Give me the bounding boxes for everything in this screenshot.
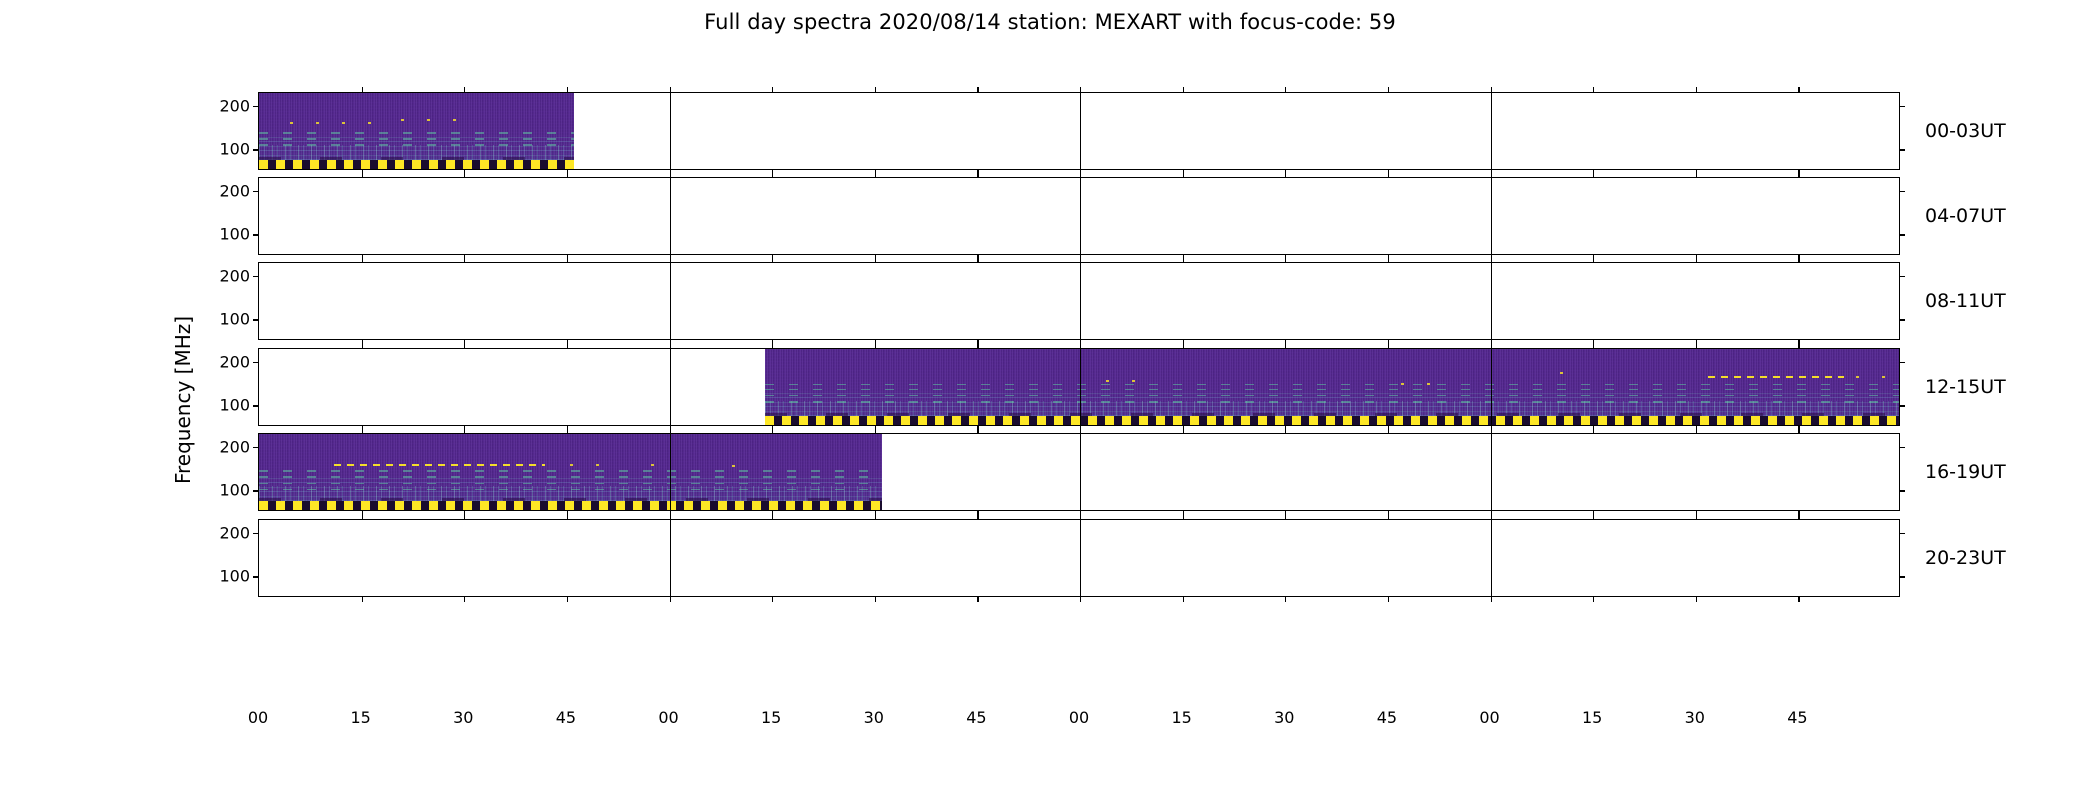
x-tick-label: 45 — [1787, 708, 1807, 727]
panel-time-range-label: 16-19UT — [1925, 461, 2006, 483]
x-tick-mark — [1798, 428, 1799, 434]
spectral-striation — [259, 144, 574, 146]
x-tick-label: 45 — [966, 708, 986, 727]
y-tick-mark — [1899, 533, 1905, 534]
hour-gridline — [1491, 520, 1492, 596]
x-tick-mark — [1183, 514, 1184, 520]
hour-gridline — [1080, 263, 1081, 339]
y-tick-label: 200 — [219, 353, 250, 372]
x-tick-mark — [670, 514, 671, 520]
x-tick-label: 30 — [1274, 708, 1294, 727]
rfi-emission-line — [290, 122, 384, 124]
y-tick-mark — [1899, 319, 1905, 320]
hour-gridline — [1491, 263, 1492, 339]
hour-gridline — [1080, 520, 1081, 596]
panel-time-range-label: 08-11UT — [1925, 290, 2006, 312]
y-tick-mark — [253, 490, 259, 491]
rfi-emission-line — [1856, 376, 1890, 378]
x-tick-mark — [464, 514, 465, 520]
x-tick-mark — [1593, 428, 1594, 434]
x-tick-mark — [1491, 514, 1492, 520]
hour-gridline — [670, 178, 671, 254]
hour-gridline — [670, 434, 671, 510]
rfi-emission-line — [1560, 372, 1583, 374]
x-tick-mark — [1798, 514, 1799, 520]
x-tick-mark — [1388, 257, 1389, 263]
panel-time-range-label: 20-23UT — [1925, 547, 2006, 569]
spectral-striation — [259, 489, 882, 491]
x-tick-label: 00 — [1069, 708, 1089, 727]
hour-gridline — [670, 263, 671, 339]
x-tick-mark — [1285, 596, 1286, 602]
x-tick-label: 00 — [248, 708, 268, 727]
y-tick-label: 100 — [219, 567, 250, 586]
panel-plot-area — [259, 178, 1899, 254]
x-tick-mark — [977, 596, 978, 602]
y-tick-mark — [253, 533, 259, 534]
x-tick-mark — [567, 257, 568, 263]
rfi-emission-line — [1401, 383, 1446, 385]
x-tick-mark — [567, 514, 568, 520]
y-tick-mark — [1899, 447, 1905, 448]
x-tick-mark — [670, 343, 671, 349]
x-tick-mark — [875, 257, 876, 263]
x-tick-mark — [1593, 257, 1594, 263]
x-tick-label: 45 — [1377, 708, 1397, 727]
spectrogram-panel: 100200 — [258, 433, 1900, 511]
y-tick-mark — [1899, 191, 1905, 192]
x-tick-mark — [464, 172, 465, 178]
y-tick-mark — [1899, 362, 1905, 363]
x-tick-mark — [1696, 343, 1697, 349]
x-tick-mark — [875, 428, 876, 434]
x-tick-mark — [464, 257, 465, 263]
x-tick-mark — [1183, 343, 1184, 349]
x-tick-mark — [1080, 87, 1081, 93]
x-tick-mark — [362, 343, 363, 349]
x-tick-mark — [1491, 257, 1492, 263]
y-tick-mark — [1899, 276, 1905, 277]
hour-gridline — [1491, 349, 1492, 425]
spectral-striation — [259, 132, 574, 134]
y-tick-label: 100 — [219, 481, 250, 500]
x-tick-label: 15 — [761, 708, 781, 727]
hour-gridline — [670, 520, 671, 596]
y-tick-label: 100 — [219, 225, 250, 244]
y-tick-label: 100 — [219, 140, 250, 159]
spectrogram-image — [765, 349, 1899, 425]
x-tick-label: 15 — [1582, 708, 1602, 727]
panel-plot-area — [259, 520, 1899, 596]
x-tick-label: 45 — [556, 708, 576, 727]
x-tick-mark — [1183, 257, 1184, 263]
x-tick-mark — [1080, 428, 1081, 434]
y-tick-mark — [253, 106, 259, 107]
x-tick-mark — [1183, 87, 1184, 93]
x-tick-label: 30 — [1685, 708, 1705, 727]
spectrogram-panel: 100200 — [258, 92, 1900, 170]
x-tick-mark — [1080, 343, 1081, 349]
x-tick-mark — [772, 514, 773, 520]
spectrogram-image — [259, 434, 882, 510]
x-tick-mark — [464, 428, 465, 434]
x-tick-mark — [875, 172, 876, 178]
x-tick-mark — [567, 596, 568, 602]
x-tick-mark — [875, 596, 876, 602]
x-tick-mark — [1080, 172, 1081, 178]
x-tick-mark — [977, 514, 978, 520]
x-tick-mark — [362, 87, 363, 93]
spectral-striation — [765, 389, 1899, 391]
x-tick-mark — [1080, 514, 1081, 520]
x-tick-mark — [1491, 172, 1492, 178]
spectrogram-image — [259, 93, 574, 169]
panel-time-range-label: 12-15UT — [1925, 376, 2006, 398]
x-tick-mark — [567, 343, 568, 349]
x-tick-mark — [362, 514, 363, 520]
x-tick-mark — [1798, 257, 1799, 263]
calibration-marker-strip — [765, 416, 1899, 425]
hour-gridline — [1491, 93, 1492, 169]
y-tick-mark — [1899, 490, 1905, 491]
spectral-striation — [765, 395, 1899, 397]
panel-plot-area — [259, 263, 1899, 339]
x-tick-mark — [362, 172, 363, 178]
y-tick-label: 200 — [219, 524, 250, 543]
y-tick-mark — [1899, 576, 1905, 577]
x-tick-mark — [1593, 172, 1594, 178]
hour-gridline — [1080, 349, 1081, 425]
panel-time-range-label: 04-07UT — [1925, 205, 2006, 227]
x-tick-mark — [1798, 596, 1799, 602]
figure-canvas: Full day spectra 2020/08/14 station: MEX… — [0, 0, 2100, 800]
x-tick-mark — [977, 172, 978, 178]
x-tick-mark — [670, 596, 671, 602]
x-tick-mark — [1285, 257, 1286, 263]
calibration-marker-strip — [259, 501, 882, 510]
x-tick-mark — [362, 428, 363, 434]
rfi-emission-line — [651, 464, 663, 466]
x-tick-mark — [1285, 514, 1286, 520]
y-tick-mark — [253, 405, 259, 406]
y-tick-label: 100 — [219, 396, 250, 415]
x-tick-mark — [1080, 596, 1081, 602]
x-tick-mark — [1183, 172, 1184, 178]
x-tick-mark — [1388, 514, 1389, 520]
x-tick-mark — [772, 172, 773, 178]
x-tick-label: 30 — [864, 708, 884, 727]
x-tick-mark — [670, 172, 671, 178]
hour-gridline — [1491, 434, 1492, 510]
y-tick-label: 200 — [219, 182, 250, 201]
rfi-emission-line — [334, 464, 546, 466]
x-tick-mark — [772, 257, 773, 263]
rfi-emission-line — [401, 119, 458, 121]
x-tick-mark — [1593, 514, 1594, 520]
x-tick-mark — [1696, 172, 1697, 178]
y-tick-mark — [253, 576, 259, 577]
x-tick-mark — [772, 428, 773, 434]
x-tick-mark — [1183, 596, 1184, 602]
spectral-striation — [765, 401, 1899, 403]
y-tick-mark — [253, 319, 259, 320]
spectral-striation — [259, 138, 574, 140]
x-tick-mark — [567, 172, 568, 178]
y-tick-label: 100 — [219, 310, 250, 329]
hour-gridline — [1080, 434, 1081, 510]
x-tick-mark — [1798, 343, 1799, 349]
x-tick-mark — [464, 87, 465, 93]
x-tick-mark — [1491, 428, 1492, 434]
x-tick-mark — [362, 596, 363, 602]
x-tick-mark — [1285, 172, 1286, 178]
x-tick-mark — [1388, 87, 1389, 93]
x-tick-mark — [1696, 257, 1697, 263]
y-tick-mark — [253, 191, 259, 192]
y-tick-mark — [253, 149, 259, 150]
x-tick-mark — [1696, 514, 1697, 520]
hour-gridline — [1491, 178, 1492, 254]
x-tick-mark — [977, 87, 978, 93]
rfi-emission-line — [570, 464, 601, 466]
x-tick-mark — [362, 257, 363, 263]
panel-time-range-label: 00-03UT — [1925, 120, 2006, 142]
x-tick-mark — [1285, 343, 1286, 349]
spectral-striation — [259, 470, 882, 472]
y-tick-label: 200 — [219, 438, 250, 457]
x-tick-mark — [1080, 257, 1081, 263]
x-tick-mark — [464, 343, 465, 349]
x-tick-label: 00 — [658, 708, 678, 727]
rfi-emission-line — [1106, 380, 1140, 382]
spectrogram-panel: 100200 — [258, 177, 1900, 255]
spectral-striation — [259, 483, 882, 485]
hour-gridline — [670, 93, 671, 169]
y-tick-mark — [1899, 106, 1905, 107]
x-tick-mark — [772, 343, 773, 349]
spectrogram-panel: 100200 — [258, 519, 1900, 597]
hour-gridline — [1080, 93, 1081, 169]
hour-gridline — [670, 349, 671, 425]
x-tick-mark — [772, 87, 773, 93]
x-tick-mark — [1491, 87, 1492, 93]
y-tick-mark — [253, 447, 259, 448]
y-tick-mark — [253, 234, 259, 235]
x-tick-mark — [670, 428, 671, 434]
x-tick-mark — [875, 514, 876, 520]
x-tick-mark — [567, 428, 568, 434]
x-tick-mark — [1593, 87, 1594, 93]
spectrogram-panel: 100200 — [258, 348, 1900, 426]
x-tick-mark — [1593, 596, 1594, 602]
x-tick-mark — [977, 257, 978, 263]
x-tick-mark — [1798, 87, 1799, 93]
x-tick-mark — [1388, 596, 1389, 602]
y-tick-mark — [253, 362, 259, 363]
x-tick-mark — [875, 343, 876, 349]
x-tick-mark — [1696, 596, 1697, 602]
y-tick-label: 200 — [219, 97, 250, 116]
x-tick-mark — [1183, 428, 1184, 434]
x-tick-label: 00 — [1479, 708, 1499, 727]
spectrogram-panel: 100200 — [258, 262, 1900, 340]
x-tick-mark — [1696, 87, 1697, 93]
y-tick-mark — [1899, 149, 1905, 150]
spectral-striation — [259, 476, 882, 478]
x-tick-label: 30 — [453, 708, 473, 727]
calibration-marker-strip — [259, 160, 574, 169]
y-tick-mark — [253, 276, 259, 277]
x-tick-mark — [977, 343, 978, 349]
x-tick-mark — [772, 596, 773, 602]
panel-plot-area — [259, 93, 1899, 169]
figure-title: Full day spectra 2020/08/14 station: MEX… — [0, 10, 2100, 34]
x-tick-mark — [1285, 87, 1286, 93]
rfi-emission-line — [732, 465, 757, 467]
x-tick-mark — [977, 428, 978, 434]
panel-plot-area — [259, 434, 1899, 510]
x-tick-mark — [1388, 428, 1389, 434]
x-tick-mark — [1285, 428, 1286, 434]
y-tick-mark — [1899, 234, 1905, 235]
x-tick-mark — [1491, 596, 1492, 602]
hour-gridline — [1080, 178, 1081, 254]
x-tick-mark — [1491, 343, 1492, 349]
panel-plot-area — [259, 349, 1899, 425]
x-tick-mark — [1388, 343, 1389, 349]
x-tick-label: 15 — [1171, 708, 1191, 727]
spectral-striation — [765, 384, 1899, 386]
x-tick-mark — [464, 596, 465, 602]
y-tick-label: 200 — [219, 267, 250, 286]
x-tick-mark — [1696, 428, 1697, 434]
x-tick-mark — [1388, 172, 1389, 178]
x-tick-mark — [670, 87, 671, 93]
y-axis-label: Frequency [MHz] — [171, 316, 195, 484]
x-tick-mark — [1593, 343, 1594, 349]
rfi-emission-line — [1708, 376, 1844, 378]
x-tick-mark — [875, 87, 876, 93]
x-tick-label: 15 — [350, 708, 370, 727]
y-tick-mark — [1899, 405, 1905, 406]
x-tick-mark — [670, 257, 671, 263]
x-tick-mark — [1798, 172, 1799, 178]
x-tick-mark — [567, 87, 568, 93]
